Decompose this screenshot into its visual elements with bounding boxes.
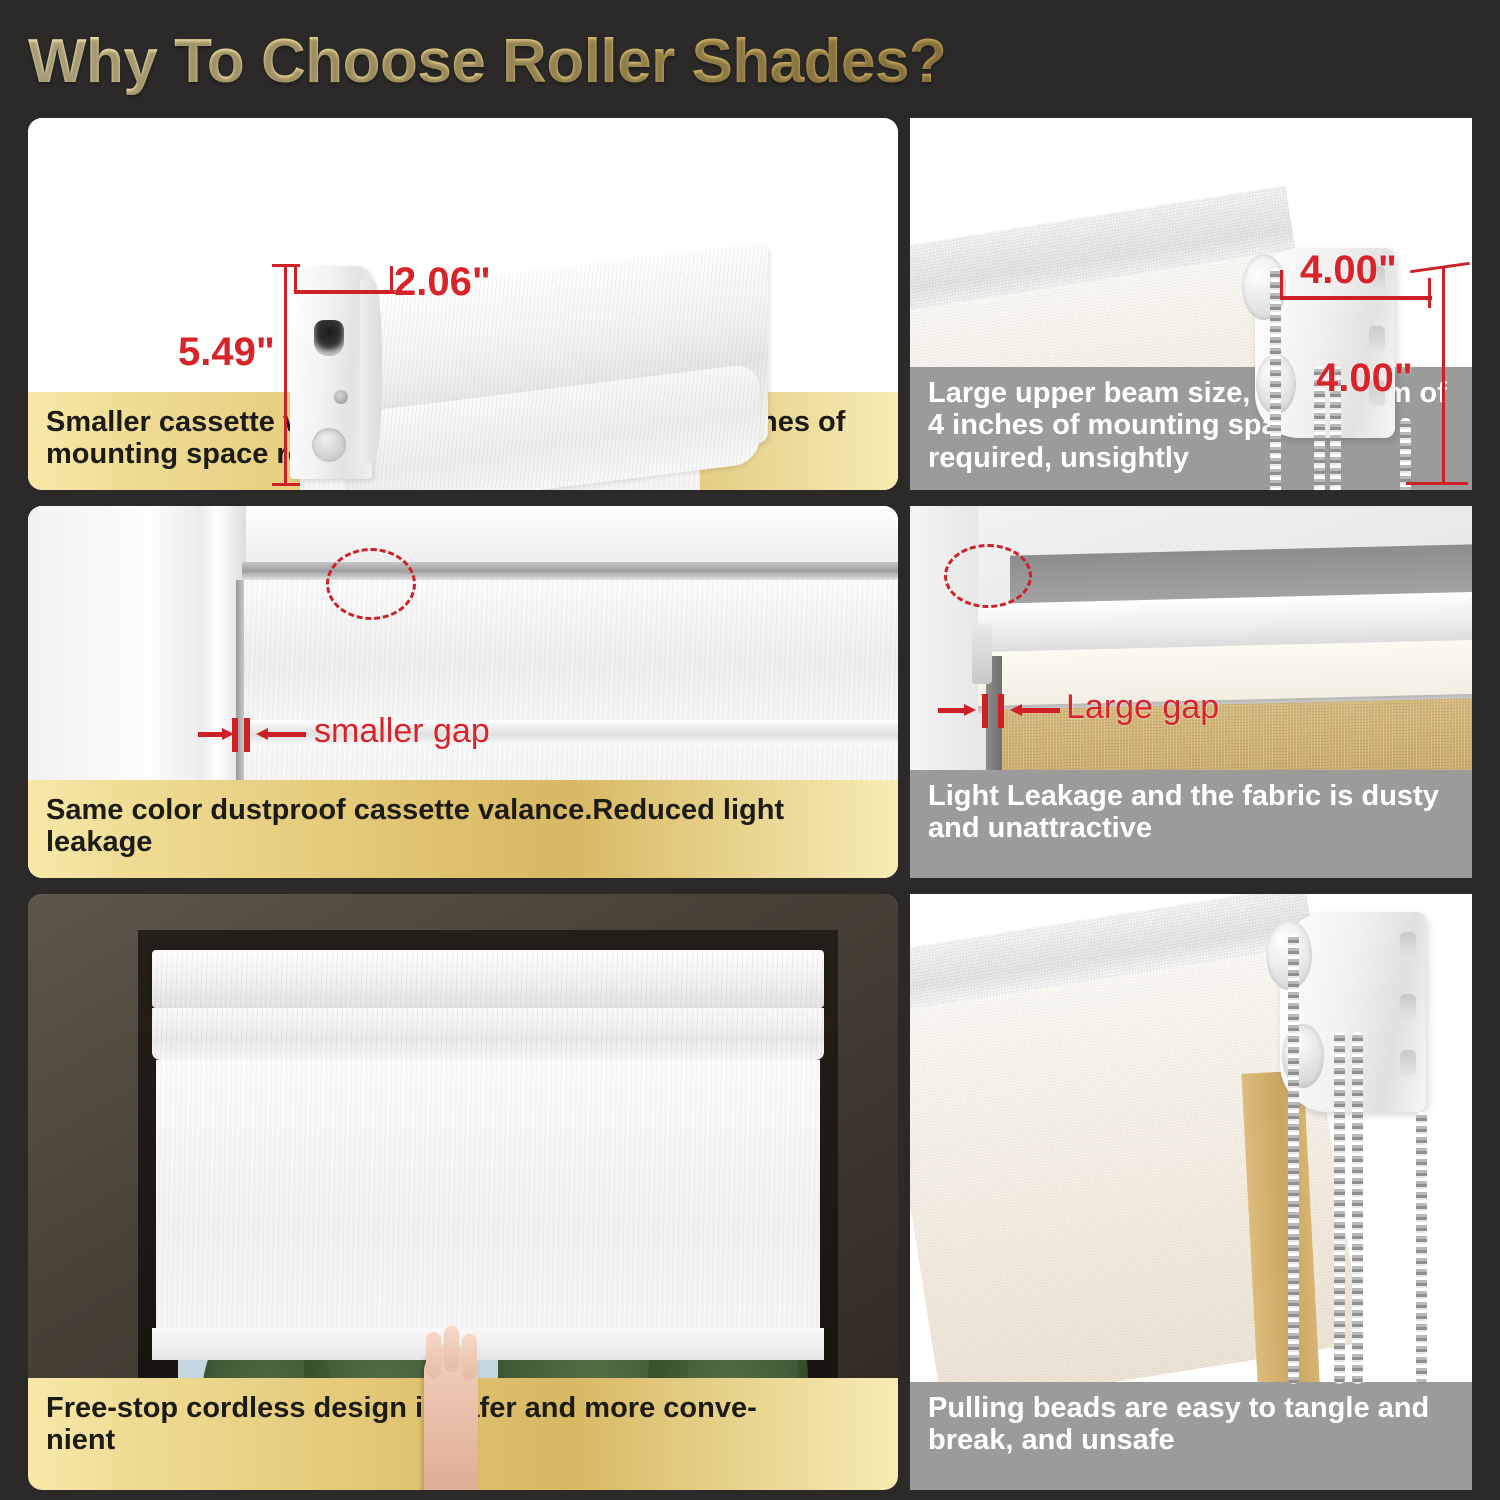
width-dimension-tick-right — [1428, 278, 1431, 308]
width-dimension-tick-right — [390, 266, 393, 294]
gap-marker-right — [998, 694, 1004, 728]
caption-good-row2: Same color dustproof cassette valance.Re… — [28, 780, 898, 878]
highlight-circle-icon — [944, 544, 1032, 608]
gap-arrow-shaft-right — [1022, 708, 1060, 713]
gap-marker-left — [982, 694, 988, 728]
caption-bad-row3-text: Pulling beads are easy to tangle and bre… — [928, 1392, 1454, 1457]
width-dimension-line — [296, 290, 396, 294]
width-dimension-label: 2.06" — [394, 260, 491, 305]
highlight-circle-icon — [326, 548, 416, 620]
bead-chain-icon — [1416, 1112, 1427, 1384]
chain-slot-icon — [314, 320, 344, 356]
comparison-grid: 5.49" 2.06" Smaller cassette valance dim… — [0, 118, 1500, 1490]
gap-label: Large gap — [1066, 688, 1219, 727]
width-dimension-line — [1282, 296, 1432, 300]
cassette-endcap — [290, 266, 372, 479]
panel-good-cordless-design: Free-stop cordless design is safer and m… — [28, 894, 898, 1490]
caption-bad-row2-text: Light Leakage and the fabric is dusty an… — [928, 780, 1454, 845]
panel-bad-pulling-beads: Pulling beads are easy to tangle and bre… — [910, 894, 1472, 1490]
bead-chain-icon — [1270, 268, 1281, 490]
height-dimension-line — [1442, 266, 1445, 484]
bead-chain-icon — [1400, 418, 1411, 490]
bead-chain-icon — [1334, 1032, 1345, 1384]
height-dimension-label: 4.00" — [1316, 356, 1413, 401]
bead-chain-icon — [1288, 934, 1299, 1384]
height-dimension-line — [284, 264, 287, 486]
panel-bad-large-gap: Large gap Light Leakage and the fabric i… — [910, 506, 1472, 878]
bead-chain-icon — [1352, 1032, 1363, 1384]
screw-icon — [334, 390, 348, 404]
height-dimension-tick-bottom — [272, 483, 300, 486]
panel-bad-large-beam: 4.00" 4.00" Large upper beam size, a min… — [910, 118, 1472, 490]
page-header: Why To Choose Roller Shades? — [28, 20, 1128, 102]
width-dimension-tick-left — [294, 266, 297, 294]
gap-arrow-shaft-right — [268, 732, 306, 737]
mount-screw-icon — [312, 428, 346, 462]
caption-good-row2-text: Same color dustproof cassette valance.Re… — [46, 794, 880, 859]
height-dimension-tick-bottom — [1406, 482, 1468, 485]
caption-bad-row2: Light Leakage and the fabric is dusty an… — [910, 770, 1472, 878]
page-title: Why To Choose Roller Shades? — [28, 26, 946, 97]
gap-label: smaller gap — [314, 712, 490, 751]
width-dimension-tick-left — [1280, 270, 1283, 300]
caption-bad-row3: Pulling beads are easy to tangle and bre… — [910, 1382, 1472, 1490]
width-dimension-label: 4.00" — [1300, 248, 1397, 293]
gap-marker-right — [244, 718, 250, 752]
height-dimension-label: 5.49" — [178, 330, 275, 375]
panel-good-smaller-gap: smaller gap Same color dustproof cassett… — [28, 506, 898, 878]
panel-good-cassette-dimensions: 5.49" 2.06" Smaller cassette valance dim… — [28, 118, 898, 490]
